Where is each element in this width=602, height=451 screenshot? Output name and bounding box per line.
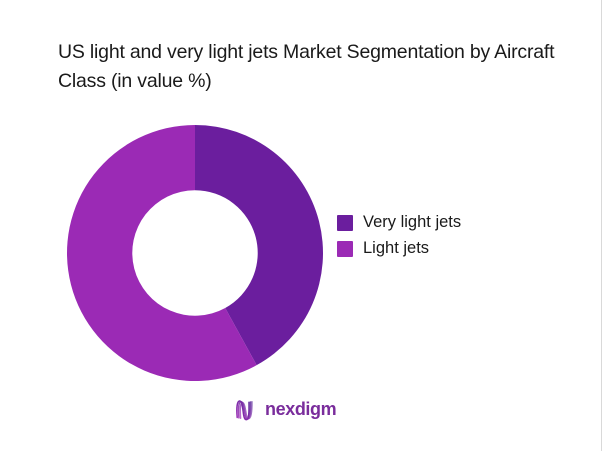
legend-label-light-jets: Light jets <box>363 239 429 258</box>
nexdigm-wave-n-logo-icon <box>232 396 258 422</box>
page-title: US light and very light jets Market Segm… <box>58 38 568 96</box>
legend-item-light-jets[interactable]: Light jets <box>337 239 461 258</box>
legend-swatch-icon-light-jets <box>337 241 353 257</box>
donut-chart-svg <box>67 125 323 381</box>
legend-item-very-light-jets[interactable]: Very light jets <box>337 213 461 232</box>
legend-label-very-light-jets: Very light jets <box>363 213 461 232</box>
brand-wordmark: nexdigm <box>265 400 336 418</box>
donut-slice-group <box>67 125 323 381</box>
donut-chart <box>67 125 323 381</box>
chart-page: US light and very light jets Market Segm… <box>0 0 602 451</box>
brand-logo: nexdigm <box>232 396 336 422</box>
chart-legend: Very light jets Light jets <box>337 213 461 258</box>
legend-swatch-icon-very-light-jets <box>337 215 353 231</box>
